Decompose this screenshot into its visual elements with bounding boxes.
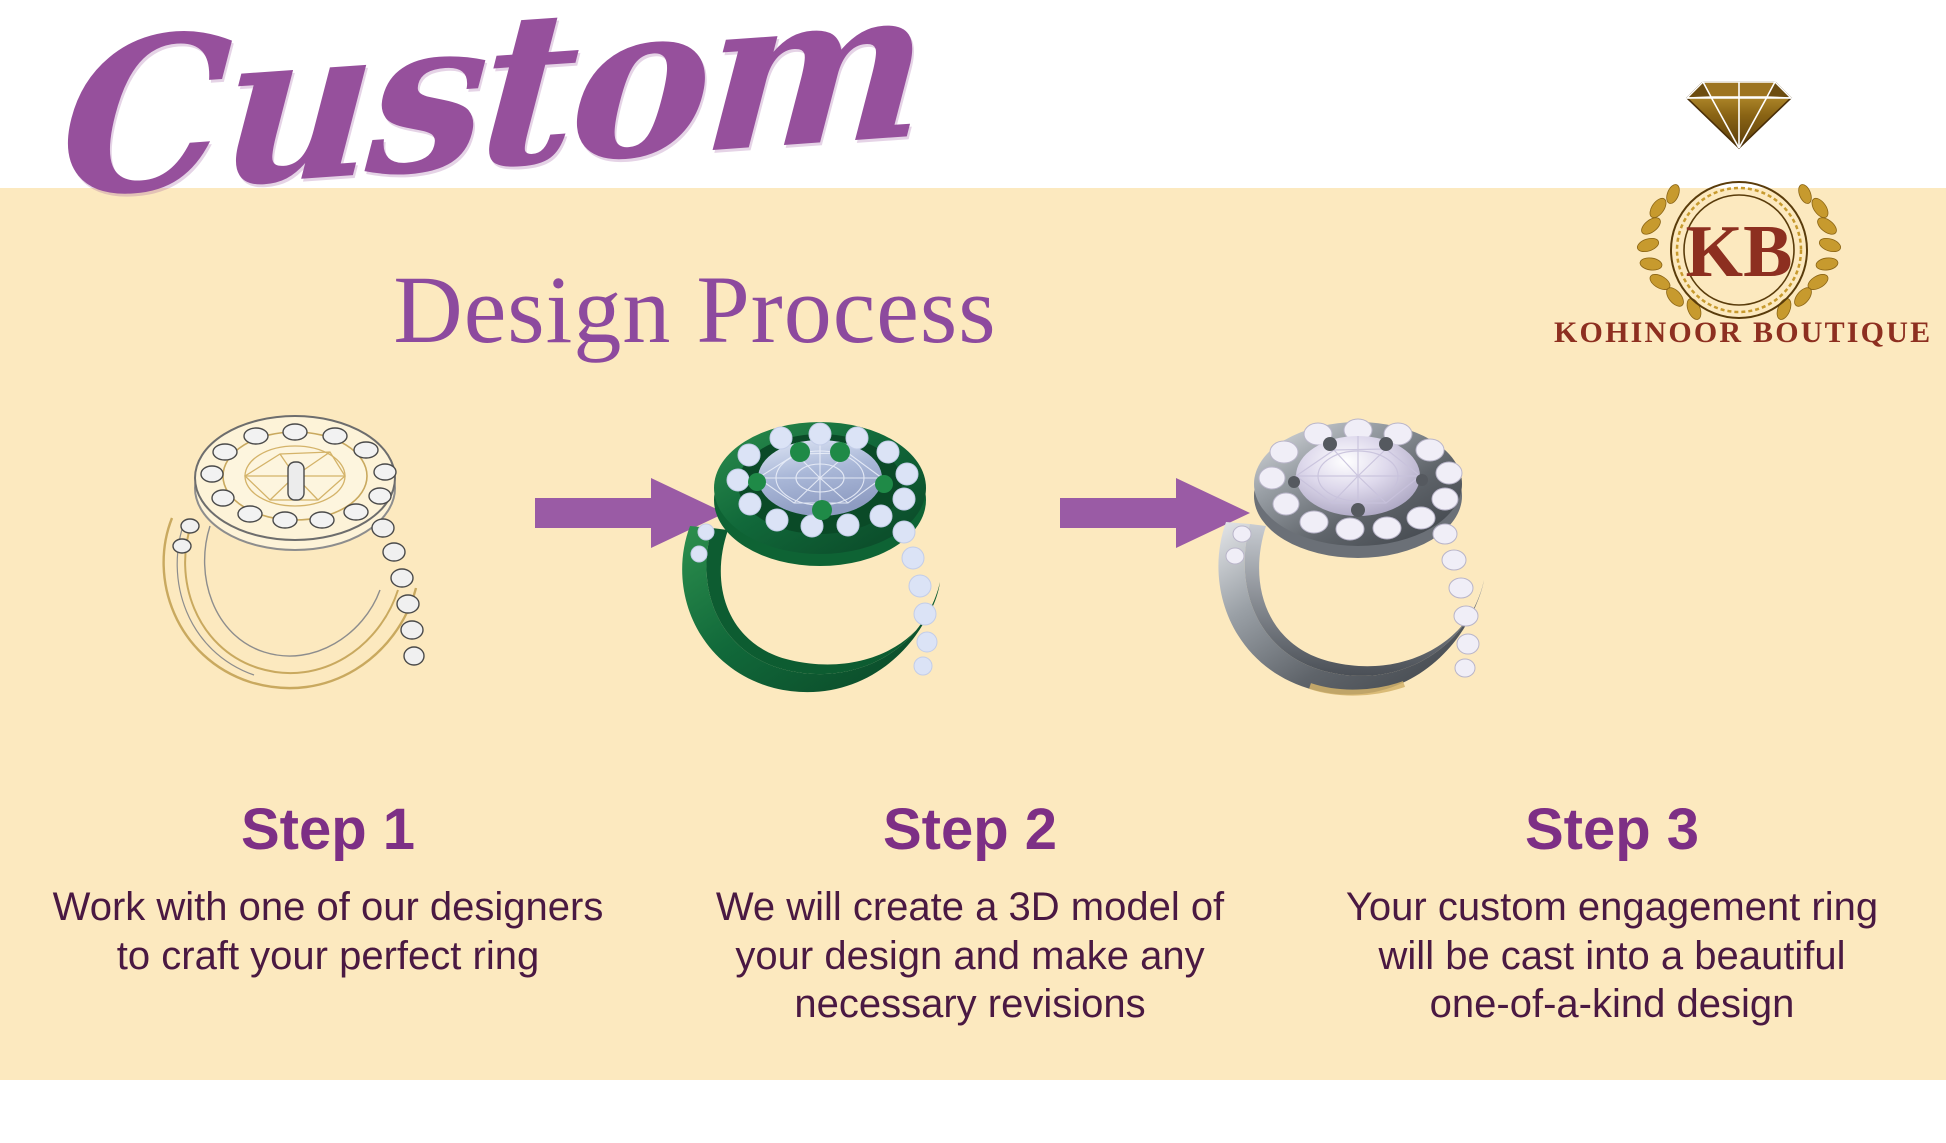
custom-design-process-banner: Custom Design Process: [0, 0, 1946, 1143]
background-band-white-bottom: [0, 1080, 1946, 1143]
page-subtitle: Design Process: [0, 262, 1390, 358]
step-2-body: We will create a 3D model of your design…: [650, 883, 1290, 1029]
ring-3d-cad-model: [650, 400, 980, 700]
step-1-body: Work with one of our designers to craft …: [8, 883, 648, 981]
step-2-title: Step 2: [650, 800, 1290, 861]
step-2-body-line-1: We will create a 3D model of: [668, 883, 1272, 932]
brand-name: KOHINOOR BOUTIQUE: [1554, 316, 1924, 350]
logo-monogram-kb: KB: [1686, 211, 1793, 293]
step-3-body-line-2: will be cast into a beautiful: [1310, 932, 1914, 981]
step-3-title: Step 3: [1292, 800, 1932, 861]
step-3-body: Your custom engagement ring will be cast…: [1292, 883, 1932, 1029]
ring-sketch-illustration: [130, 400, 460, 700]
step-3-body-line-3: one-of-a-kind design: [1310, 980, 1914, 1029]
step-2-body-line-3: necessary revisions: [668, 980, 1272, 1029]
ring-finished-photo: [1190, 400, 1520, 700]
step-column-1: Step 1 Work with one of our designers to…: [8, 800, 648, 980]
diamond-icon: [1679, 64, 1799, 150]
process-graphics-row: [0, 400, 1946, 700]
brand-logo: KB KOHINOOR BOUTIQUE: [1554, 58, 1924, 328]
laurel-wreath-icon: KB: [1634, 150, 1844, 330]
step-1-body-line-1: Work with one of our designers: [26, 883, 630, 932]
step-3-body-line-1: Your custom engagement ring: [1310, 883, 1914, 932]
step-column-3: Step 3 Your custom engagement ring will …: [1292, 800, 1932, 1029]
step-1-title: Step 1: [8, 800, 648, 861]
step-column-2: Step 2 We will create a 3D model of your…: [650, 800, 1290, 1029]
step-2-body-line-2: your design and make any: [668, 932, 1272, 981]
step-1-body-line-2: to craft your perfect ring: [26, 932, 630, 981]
